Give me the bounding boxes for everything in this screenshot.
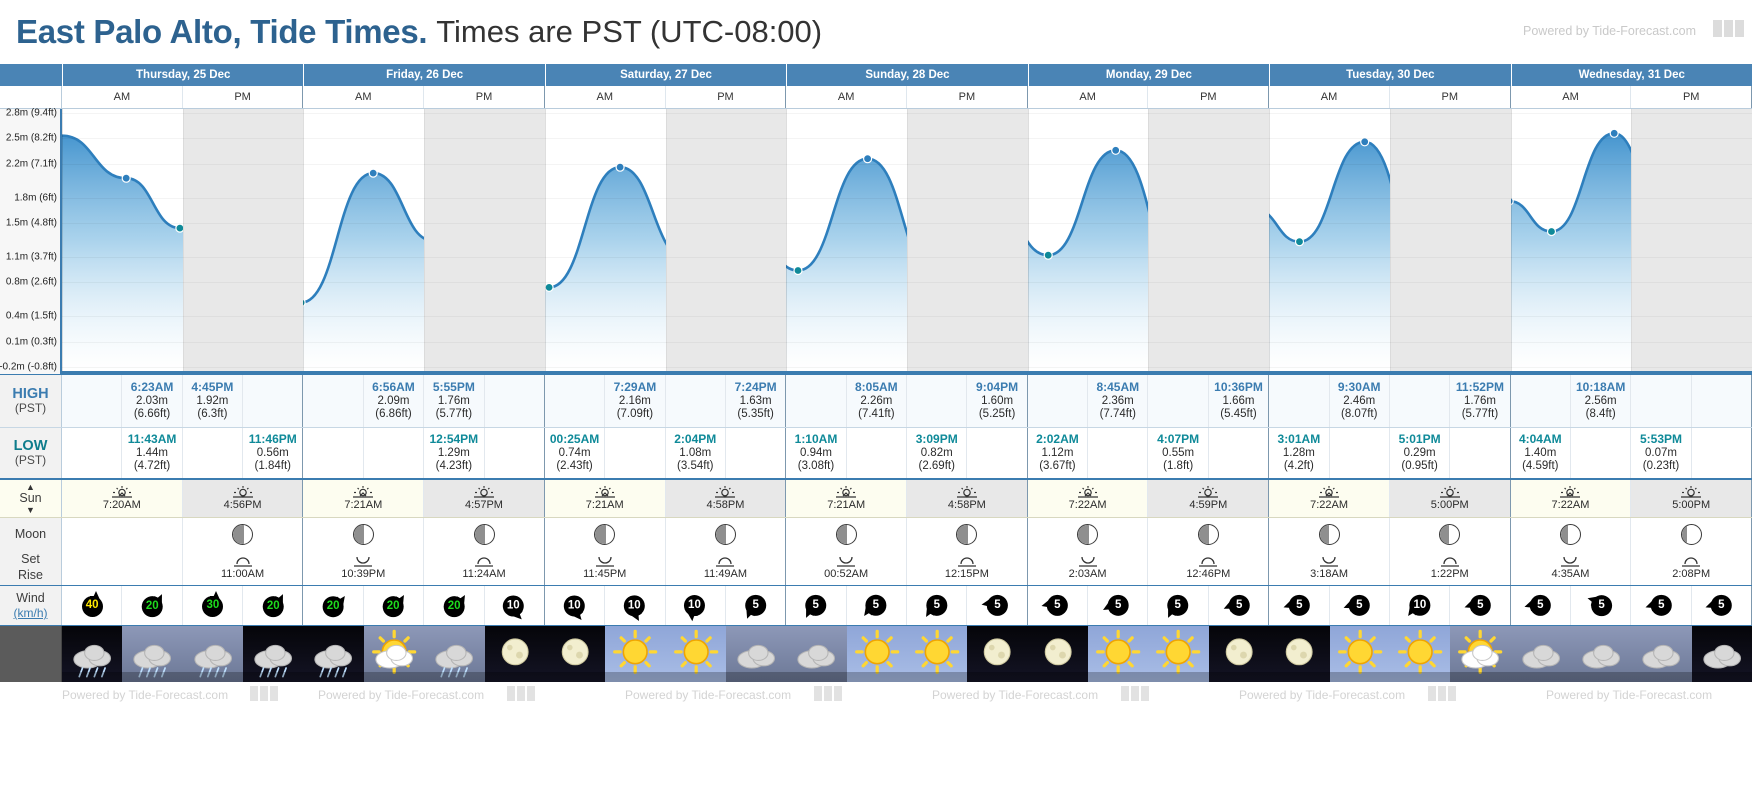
wind-direction-icon: 40 — [76, 590, 108, 622]
moonset-icon — [956, 554, 978, 567]
wind-label: Wind — [16, 591, 44, 606]
wind-direction-icon: 5 — [854, 586, 899, 625]
y-axis-tick-label: 0.8m (2.6ft) — [6, 277, 57, 288]
sunrise-icon — [835, 485, 857, 498]
rise-label: Rise — [18, 568, 43, 584]
high-tide-cell[interactable]: 11:52PM1.76m(5.77ft) — [1450, 375, 1510, 427]
wind-speed-badge: 5 — [1107, 594, 1128, 615]
moon-phase-icon — [474, 524, 495, 545]
moon-phase-cell — [1269, 518, 1390, 550]
moon-setrise-cell: 11:49AM — [666, 550, 787, 585]
high-tide-cell[interactable]: 7:24PM1.63m(5.35ft) — [726, 375, 786, 427]
wind-cell: 10 — [545, 586, 605, 625]
high-tide-height-ft: (6.3ft) — [197, 408, 227, 422]
weather-icon-cell — [1511, 626, 1571, 682]
low-tide-height-m: 0.82m — [921, 447, 953, 461]
chart-gridline-vertical — [1390, 109, 1391, 371]
high-tide-height-m: 2.36m — [1102, 395, 1134, 409]
low-tide-height-ft: (3.08ft) — [798, 460, 834, 474]
high-tide-cell[interactable]: 9:04PM1.60m(5.25ft) — [967, 375, 1027, 427]
low-tide-time: 3:09PM — [916, 432, 958, 446]
moon-phase-cell — [424, 518, 545, 550]
moon-setrise-row: Set Rise 11:00AM10:39PM11:24AM11:45PM11:… — [0, 550, 1752, 586]
high-tide-height-ft: (6.66ft) — [134, 408, 170, 422]
weather-icon-cell — [303, 626, 363, 682]
low-tide-cell — [726, 428, 786, 478]
low-tide-cell — [183, 428, 243, 478]
wind-speed-badge: 5 — [1228, 594, 1249, 615]
weather-ground — [424, 672, 484, 682]
low-tide-cell[interactable]: 3:01AM1.28m(4.2ft) — [1269, 428, 1329, 478]
page-header: East Palo Alto, Tide Times. Times are PS… — [0, 0, 1752, 64]
wind-direction-icon: 5 — [1581, 586, 1620, 625]
high-tide-cell[interactable]: 9:30AM2.46m(8.07ft) — [1330, 375, 1390, 427]
wind-speed-badge: 10 — [563, 595, 584, 616]
wind-speed-badge: 5 — [1711, 594, 1732, 615]
moon-event-time: 4:35AM — [1552, 568, 1590, 581]
wind-unit-link[interactable]: (km/h) — [14, 606, 48, 620]
ampm-header-cell: AM — [545, 86, 666, 108]
high-tide-cell — [1028, 375, 1088, 427]
wind-direction-icon: 20 — [131, 586, 174, 625]
sunrise-icon — [352, 485, 374, 498]
high-tide-cell[interactable]: 6:23AM2.03m(6.66ft) — [122, 375, 182, 427]
wind-direction-icon: 10 — [1397, 586, 1442, 625]
low-tide-row-label: LOW (PST) — [0, 428, 62, 478]
high-tide-height-m: 2.26m — [860, 395, 892, 409]
night-shading-band — [1148, 109, 1269, 371]
moon-phase-cell — [303, 518, 424, 550]
low-tide-cell[interactable]: 1:10AM0.94m(3.08ft) — [786, 428, 846, 478]
wind-direction-icon: 20 — [251, 586, 294, 625]
high-tide-height-m: 2.16m — [619, 395, 651, 409]
wind-cell: 5 — [1330, 586, 1390, 625]
low-tide-height-m: 0.29m — [1404, 447, 1436, 461]
wind-speed-badge: 5 — [805, 594, 826, 615]
sunrise-cell: 7:21AM — [303, 480, 424, 517]
wind-speed-badge: 5 — [1289, 594, 1310, 615]
wind-speed-badge: 5 — [1530, 594, 1551, 615]
sun-time: 7:22AM — [1069, 499, 1107, 512]
wind-cells: 4020302020202010101010555555555551055555 — [62, 586, 1752, 625]
day-header-cell: Thursday, 25 Dec — [62, 64, 303, 86]
wind-cell: 5 — [1209, 586, 1269, 625]
moon-event-time: 11:24AM — [462, 568, 505, 581]
moon-event-time: 1:22PM — [1431, 568, 1469, 581]
sun-time: 4:58PM — [706, 499, 744, 512]
wind-direction-icon: 30 — [196, 590, 228, 622]
high-tide-cell[interactable]: 6:56AM2.09m(6.86ft) — [364, 375, 424, 427]
weather-ground — [1148, 672, 1208, 682]
low-tide-cell — [967, 428, 1027, 478]
chart-gridline-horizontal — [62, 367, 1752, 368]
moon-phase-cell — [545, 518, 666, 550]
chart-gridline-horizontal — [62, 113, 1752, 114]
low-tide-height-m: 1.44m — [136, 447, 168, 461]
weather-ground — [243, 672, 303, 682]
low-tide-time: 2:04PM — [674, 432, 716, 446]
footer-powered-3: Powered by Tide-Forecast.com — [625, 688, 791, 702]
low-tide-cell — [485, 428, 545, 478]
high-tide-row: HIGH (PST) 6:23AM2.03m(6.66ft)4:45PM1.92… — [0, 374, 1752, 428]
wind-speed-badge: 40 — [82, 596, 103, 617]
weather-icon-cell — [364, 626, 424, 682]
wind-cell: 5 — [907, 586, 967, 625]
high-tide-height-ft: (7.41ft) — [858, 408, 894, 422]
sunset-cell: 5:00PM — [1390, 480, 1511, 517]
set-label: Set — [21, 552, 40, 568]
moonrise-icon — [1077, 554, 1099, 567]
weather-ground — [1330, 672, 1390, 682]
wind-direction-icon: 5 — [735, 586, 776, 625]
moon-event-time: 2:08PM — [1672, 568, 1710, 581]
low-tide-height-ft: (4.72ft) — [134, 460, 170, 474]
weather-ground — [303, 672, 363, 682]
wind-direction-icon: 5 — [1641, 586, 1682, 625]
weather-icon-cell — [1028, 626, 1088, 682]
page-subtitle: Times are PST (UTC-08:00) — [436, 14, 822, 50]
wind-direction-icon: 5 — [915, 586, 959, 625]
high-tide-cell[interactable]: 4:45PM1.92m(6.3ft) — [183, 375, 243, 427]
high-tide-cell[interactable]: 10:18AM2.56m(8.4ft) — [1571, 375, 1631, 427]
chart-gridline-vertical — [1148, 109, 1149, 371]
sunset-cell: 5:00PM — [1631, 480, 1752, 517]
night-shading-band — [666, 109, 787, 371]
low-tide-cell — [1450, 428, 1510, 478]
moonrise-icon — [1318, 554, 1340, 567]
moon-phase-cell — [62, 518, 183, 550]
sun-time: 4:58PM — [948, 499, 986, 512]
sunrise-icon — [1077, 485, 1099, 498]
low-tide-height-m: 1.12m — [1041, 447, 1073, 461]
high-tide-height-ft: (7.09ft) — [617, 408, 653, 422]
wind-speed-badge: 10 — [684, 595, 705, 616]
wind-direction-icon: 20 — [372, 586, 416, 625]
low-tide-cell[interactable]: 5:53PM0.07m(0.23ft) — [1631, 428, 1691, 478]
wind-direction-icon: 5 — [1217, 586, 1260, 625]
moon-phase-cell — [183, 518, 304, 550]
weather-icon-cell — [1571, 626, 1631, 682]
low-tide-cell[interactable]: 2:02AM1.12m(3.67ft) — [1028, 428, 1088, 478]
wind-direction-icon: 5 — [1520, 586, 1560, 625]
high-tide-time: 7:24PM — [735, 380, 777, 394]
high-tide-height-ft: (5.35ft) — [737, 408, 773, 422]
weather-icon-cell — [424, 626, 484, 682]
low-tide-cell — [1209, 428, 1269, 478]
moon-phase-cell — [1631, 518, 1752, 550]
footer-powered-2: Powered by Tide-Forecast.com — [318, 688, 484, 702]
ampm-header-cell: AM — [1028, 86, 1149, 108]
weather-icon-cell — [62, 626, 122, 682]
moonset-icon — [714, 554, 736, 567]
day-header-cell: Saturday, 27 Dec — [545, 64, 786, 86]
footer-powered-6: Powered by Tide-Forecast.com — [1546, 688, 1712, 702]
wind-cell: 10 — [1390, 586, 1450, 625]
sunset-icon — [1439, 485, 1461, 498]
high-tide-height-m: 1.76m — [1464, 395, 1496, 409]
wind-cell: 5 — [786, 586, 846, 625]
y-axis-tick-label: 1.5m (4.8ft) — [6, 218, 57, 229]
wind-cell: 5 — [1028, 586, 1088, 625]
wind-speed-badge: 20 — [383, 596, 404, 617]
wind-speed-badge: 5 — [926, 594, 947, 615]
weather-ground — [1209, 672, 1269, 682]
low-tide-cell[interactable]: 5:01PM0.29m(0.95ft) — [1390, 428, 1450, 478]
low-tide-height-ft: (4.59ft) — [1522, 460, 1558, 474]
night-shading-band — [183, 109, 304, 371]
chart-gridline-horizontal — [62, 198, 1752, 199]
weather-icon-cell — [1148, 626, 1208, 682]
high-tide-cell[interactable]: 10:36PM1.66m(5.45ft) — [1209, 375, 1269, 427]
high-tide-cell[interactable]: 8:05AM2.26m(7.41ft) — [847, 375, 907, 427]
sunrise-icon — [594, 485, 616, 498]
moon-phase-icon — [1681, 524, 1702, 545]
chart-gridline-horizontal — [62, 316, 1752, 317]
wind-speed-badge: 5 — [1349, 594, 1370, 615]
moon-event-time: 12:46PM — [1186, 568, 1230, 581]
moon-phase-icon — [1560, 524, 1581, 545]
low-tide-time: 4:07PM — [1157, 432, 1199, 446]
high-tide-time: 9:04PM — [976, 380, 1018, 394]
moon-setrise-cell: 11:45PM — [545, 550, 666, 585]
wind-direction-icon: 5 — [1701, 586, 1742, 625]
weather-icon-cell — [786, 626, 846, 682]
weather-ground — [62, 672, 122, 682]
sun-row: ▲ Sun ▼ 7:20AM4:56PM7:21AM4:57PM7:21AM4:… — [0, 480, 1752, 518]
high-tide-time: 8:05AM — [855, 380, 898, 394]
high-tide-time: 6:56AM — [372, 380, 415, 394]
high-tide-height-m: 1.92m — [196, 395, 228, 409]
night-shading-band — [424, 109, 545, 371]
day-separator-line — [1269, 109, 1270, 371]
y-axis-tick-label: 1.1m (3.7ft) — [6, 251, 57, 262]
low-tide-height-ft: (4.2ft) — [1284, 460, 1314, 474]
moon-setrise-cell: 4:35AM — [1511, 550, 1632, 585]
ampm-header-cell: AM — [303, 86, 424, 108]
high-tide-cell — [303, 375, 363, 427]
y-axis-tick-label: 2.5m (8.2ft) — [6, 133, 57, 144]
low-tide-time: 11:43AM — [128, 432, 177, 446]
wind-cell: 5 — [967, 586, 1027, 625]
low-tide-cell[interactable]: 2:04PM1.08m(3.54ft) — [666, 428, 726, 478]
high-tide-height-m: 2.46m — [1343, 395, 1375, 409]
sun-time: 5:00PM — [1431, 499, 1469, 512]
high-tide-height-ft: (7.74ft) — [1100, 408, 1136, 422]
wind-speed-badge: 10 — [624, 595, 645, 616]
weather-ground — [726, 672, 786, 682]
y-axis-tick-label: 2.8m (9.4ft) — [6, 108, 57, 119]
high-tide-cell[interactable]: 8:45AM2.36m(7.74ft) — [1088, 375, 1148, 427]
wind-direction-icon: 5 — [1157, 586, 1200, 625]
wind-speed-badge: 5 — [1591, 595, 1612, 616]
moon-event-time: 00:52AM — [824, 568, 868, 581]
high-tide-time: 7:29AM — [614, 380, 657, 394]
high-tide-height-m: 2.09m — [377, 395, 409, 409]
low-tide-cell[interactable]: 00:25AM0.74m(2.43ft) — [545, 428, 605, 478]
weather-ground — [1631, 672, 1691, 682]
chart-gridline-vertical — [1631, 109, 1632, 371]
low-tide-row: LOW (PST) 11:43AM1.44m(4.72ft)11:46PM0.5… — [0, 428, 1752, 480]
sun-cells: 7:20AM4:56PM7:21AM4:57PM7:21AM4:58PM7:21… — [62, 480, 1752, 517]
moon-phase-icon — [715, 524, 736, 545]
low-tide-cell — [605, 428, 665, 478]
low-tide-cell — [847, 428, 907, 478]
moon-phase-cell — [666, 518, 787, 550]
day-header-row: Thursday, 25 DecFriday, 26 DecSaturday, … — [0, 64, 1752, 86]
weather-icon-cell — [243, 626, 303, 682]
sunset-icon — [232, 485, 254, 498]
moonset-icon — [473, 554, 495, 567]
y-axis-tick-label: 1.8m (6ft) — [14, 192, 57, 203]
weather-ground — [1571, 672, 1631, 682]
high-unit-label: (PST) — [15, 402, 46, 416]
high-tide-cell[interactable]: 7:29AM2.16m(7.09ft) — [605, 375, 665, 427]
low-tide-cell[interactable]: 3:09PM0.82m(2.69ft) — [907, 428, 967, 478]
moon-phase-cell — [907, 518, 1028, 550]
sunrise-icon — [1318, 485, 1340, 498]
footer-logo-1 — [250, 686, 278, 701]
sunrise-icon — [1559, 485, 1581, 498]
low-tide-cell — [1692, 428, 1752, 478]
ampm-header-cell: PM — [666, 86, 787, 108]
low-tide-height-ft: (2.69ft) — [918, 460, 954, 474]
moon-setrise-cell: 2:08PM — [1631, 550, 1752, 585]
low-tide-height-m: 0.56m — [257, 447, 289, 461]
moon-event-time: 12:15PM — [945, 568, 989, 581]
wind-speed-badge: 20 — [323, 596, 344, 617]
moon-phase-icon — [956, 524, 977, 545]
wind-cell: 10 — [605, 586, 665, 625]
sunrise-cell: 7:22AM — [1269, 480, 1390, 517]
weather-icon-cell — [1631, 626, 1691, 682]
weather-icon-cell — [847, 626, 907, 682]
footer-powered-5: Powered by Tide-Forecast.com — [1239, 688, 1405, 702]
moon-event-time: 3:18AM — [1310, 568, 1348, 581]
low-tide-height-m: 1.29m — [438, 447, 470, 461]
moon-event-time: 11:49AM — [704, 568, 747, 581]
wind-cell: 5 — [1088, 586, 1148, 625]
low-tide-cell[interactable]: 11:46PM0.56m(1.84ft) — [243, 428, 303, 478]
high-tide-height-m: 1.63m — [740, 395, 772, 409]
sun-row-label: ▲ Sun ▼ — [0, 480, 62, 517]
weather-icon-cell — [485, 626, 545, 682]
high-tide-cell — [1269, 375, 1329, 427]
low-tide-height-ft: (2.43ft) — [556, 460, 592, 474]
sunset-icon — [714, 485, 736, 498]
low-tide-cell[interactable]: 11:43AM1.44m(4.72ft) — [122, 428, 182, 478]
low-tide-cell[interactable]: 4:04AM1.40m(4.59ft) — [1511, 428, 1571, 478]
ampm-header-cell: PM — [1390, 86, 1511, 108]
high-tide-cell — [1692, 375, 1752, 427]
wind-direction-icon: 5 — [1338, 586, 1380, 625]
low-tide-cell[interactable]: 4:07PM0.55m(1.8ft) — [1148, 428, 1208, 478]
low-tide-time: 4:04AM — [1519, 432, 1562, 446]
high-tide-height-ft: (5.77ft) — [1462, 408, 1498, 422]
low-tide-cell — [1330, 428, 1390, 478]
high-tide-height-ft: (5.77ft) — [436, 408, 472, 422]
wind-speed-badge: 5 — [1651, 594, 1672, 615]
sunrise-cell: 7:20AM — [62, 480, 183, 517]
high-tide-time: 8:45AM — [1096, 380, 1139, 394]
high-tide-cell — [786, 375, 846, 427]
sunrise-icon — [111, 485, 133, 498]
low-tide-height-ft: (1.8ft) — [1163, 460, 1193, 474]
weather-ground — [485, 672, 545, 682]
y-axis-tick-label: -0.2m (-0.8ft) — [0, 362, 57, 373]
sunrise-cell: 7:22AM — [1511, 480, 1632, 517]
moon-phase-cell — [786, 518, 907, 550]
high-tide-cell — [243, 375, 303, 427]
ampm-header-cell: AM — [786, 86, 907, 108]
high-tide-row-label: HIGH (PST) — [0, 375, 62, 427]
sunset-icon — [1680, 485, 1702, 498]
day-separator-line — [1028, 109, 1029, 371]
high-tide-height-m: 2.56m — [1585, 395, 1617, 409]
low-tide-height-ft: (1.84ft) — [255, 460, 291, 474]
sun-time: 7:22AM — [1552, 499, 1590, 512]
wind-cell: 40 — [62, 586, 122, 625]
weather-ground — [1028, 672, 1088, 682]
low-tide-cell — [303, 428, 363, 478]
moon-setrise-cells: 11:00AM10:39PM11:24AM11:45PM11:49AM00:52… — [62, 550, 1752, 585]
moon-event-time: 10:39PM — [341, 568, 385, 581]
high-tide-cell — [485, 375, 545, 427]
sun-time: 4:56PM — [224, 499, 262, 512]
ampm-header-row: AMPMAMPMAMPMAMPMAMPMAMPMAMPM — [0, 86, 1752, 109]
low-tide-height-ft: (0.95ft) — [1401, 460, 1437, 474]
wind-cell: 5 — [1148, 586, 1208, 625]
moon-setrise-cell: 10:39PM — [303, 550, 424, 585]
sun-label: Sun — [19, 491, 41, 505]
sunset-icon — [956, 485, 978, 498]
weather-ground — [183, 672, 243, 682]
wind-direction-icon: 10 — [552, 586, 597, 625]
day-separator-line — [62, 109, 63, 371]
ampm-header-cell: PM — [907, 86, 1028, 108]
wind-direction-icon: 5 — [1278, 586, 1319, 625]
chart-plot-area[interactable]: 6:23AM 2.03m11:43AM 1.44m4:45PM 1.92m11:… — [62, 109, 1752, 374]
high-tide-cells: 6:23AM2.03m(6.66ft)4:45PM1.92m(6.3ft)6:5… — [62, 375, 1752, 427]
moon-phase-icon — [836, 524, 857, 545]
wind-speed-badge: 20 — [262, 596, 283, 617]
moonrise-icon — [594, 554, 616, 567]
low-tide-height-m: 1.40m — [1524, 447, 1556, 461]
y-axis-tick-label: 0.1m (0.3ft) — [6, 336, 57, 347]
sun-time: 4:57PM — [465, 499, 503, 512]
low-tide-height-ft: (3.67ft) — [1039, 460, 1075, 474]
sunset-cell: 4:58PM — [907, 480, 1028, 517]
low-tide-cell[interactable]: 12:54PM1.29m(4.23ft) — [424, 428, 484, 478]
weather-ground — [122, 672, 182, 682]
weather-icon-cell — [1330, 626, 1390, 682]
high-tide-cell — [1390, 375, 1450, 427]
wind-cell: 5 — [1692, 586, 1752, 625]
sun-time: 4:59PM — [1189, 499, 1227, 512]
sunrise-arrow-icon: ▲ — [26, 483, 35, 492]
weather-ground — [786, 672, 846, 682]
weather-icon-cell — [1209, 626, 1269, 682]
high-tide-cell[interactable]: 5:55PM1.76m(5.77ft) — [424, 375, 484, 427]
sunset-cell: 4:58PM — [666, 480, 787, 517]
ampm-header-cell: PM — [1148, 86, 1269, 108]
high-tide-cell — [1148, 375, 1208, 427]
footer-logo-3 — [814, 686, 842, 701]
tide-chart: 2.8m (9.4ft)2.5m (8.2ft)2.2m (7.1ft)1.8m… — [0, 109, 1752, 374]
weather-icon-cell — [605, 626, 665, 682]
moon-event-time: 2:03AM — [1069, 568, 1107, 581]
high-tide-height-m: 1.60m — [981, 395, 1013, 409]
wind-speed-badge: 5 — [1470, 594, 1491, 615]
